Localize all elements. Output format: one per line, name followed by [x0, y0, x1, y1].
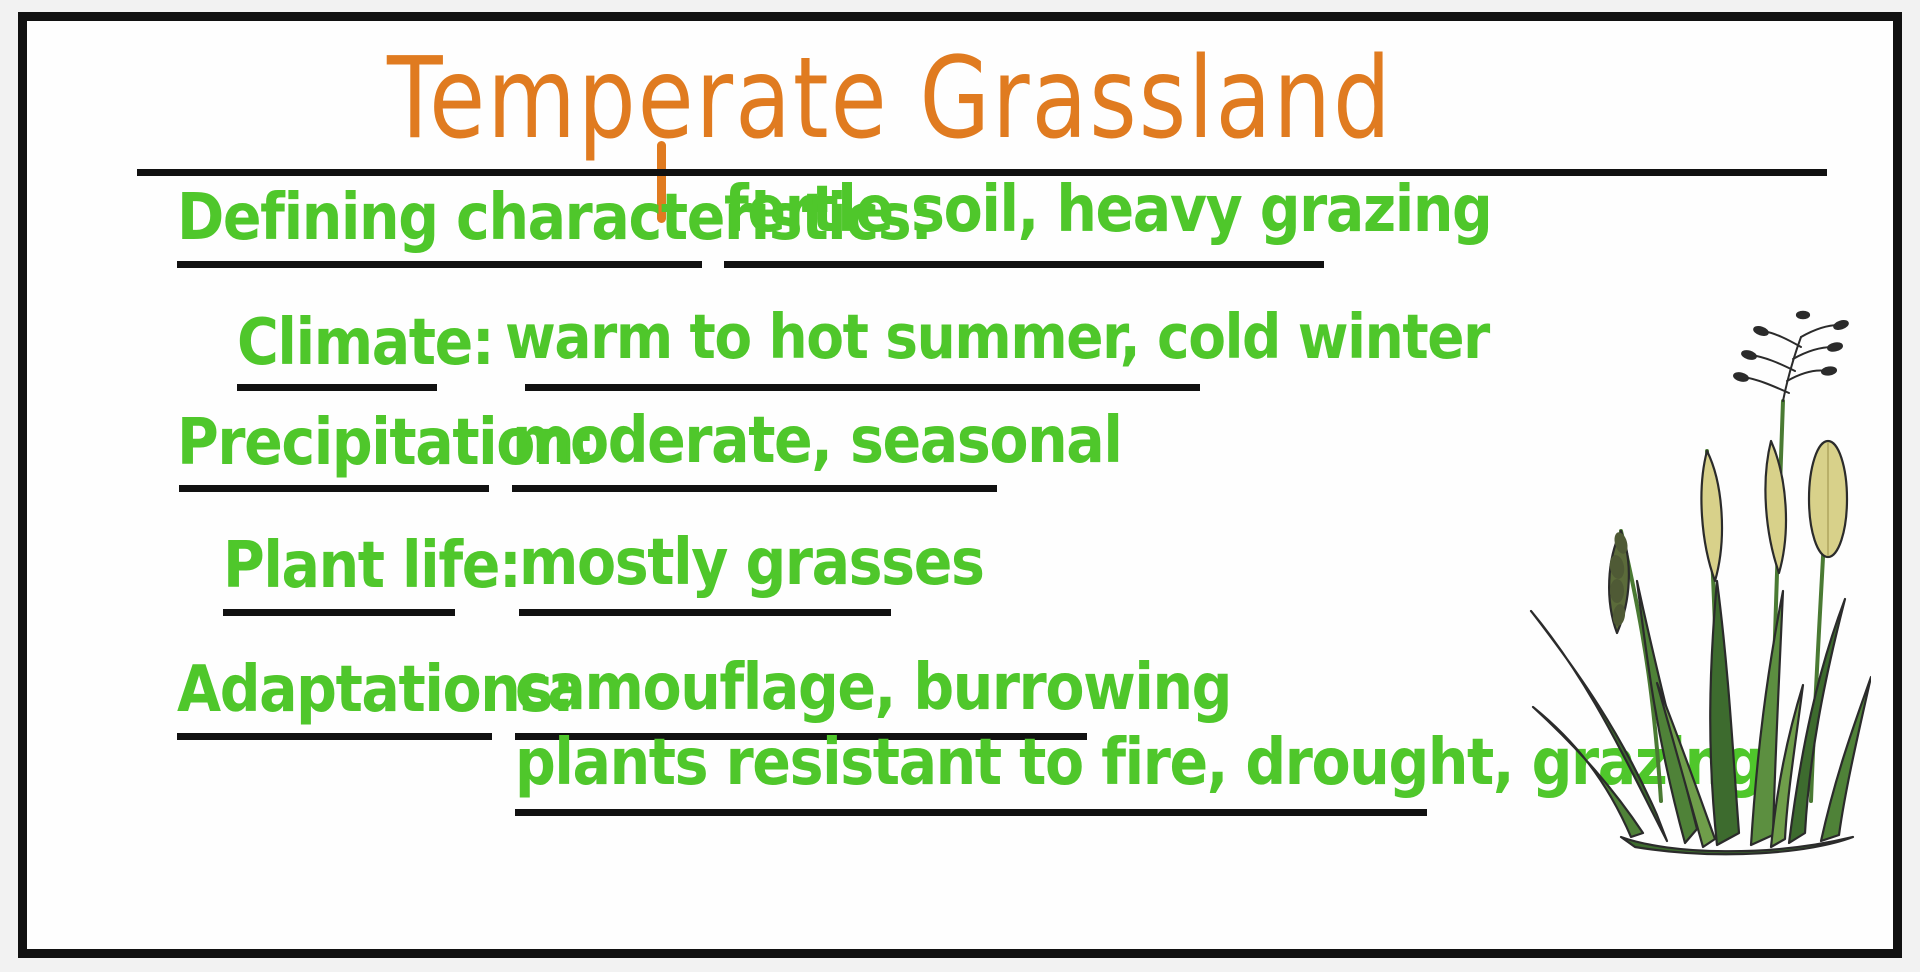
row-label-underline-1	[177, 261, 702, 268]
row-label-plant-life: Plant life:	[223, 529, 520, 603]
row-value-plant-life: mostly grasses	[519, 526, 983, 600]
grass-clump-illustration	[1471, 281, 1871, 861]
whiteboard-surface: Temperate Grassland Defining characteris…	[27, 21, 1893, 949]
row-label-adaptations: Adaptations:	[177, 653, 573, 727]
row-value-adaptations: camouflage, burrowing	[515, 651, 1231, 725]
slide-canvas: Temperate Grassland Defining characteris…	[0, 0, 1920, 972]
row-label-underline-4	[223, 609, 455, 616]
row-value-underline-1	[724, 261, 1324, 268]
row-label-underline-3	[179, 485, 489, 492]
row-label-underline-5	[177, 733, 492, 740]
row-value-underline-4	[519, 609, 891, 616]
whiteboard-frame: Temperate Grassland Defining characteris…	[18, 12, 1902, 958]
row-value-underline-2	[525, 384, 1200, 391]
row-label-climate: Climate:	[237, 306, 493, 380]
row-value-climate: warm to hot summer, cold winter	[505, 301, 1489, 373]
row-value-precipitation: moderate, seasonal	[512, 404, 1122, 478]
row-value-defining-characteristics: fertle soil, heavy grazing	[724, 173, 1491, 247]
page-title: Temperate Grassland	[387, 43, 1393, 155]
row-value-underline-3	[512, 485, 997, 492]
row-value-underline-5b	[515, 809, 1427, 816]
row-label-underline-2	[237, 384, 437, 391]
